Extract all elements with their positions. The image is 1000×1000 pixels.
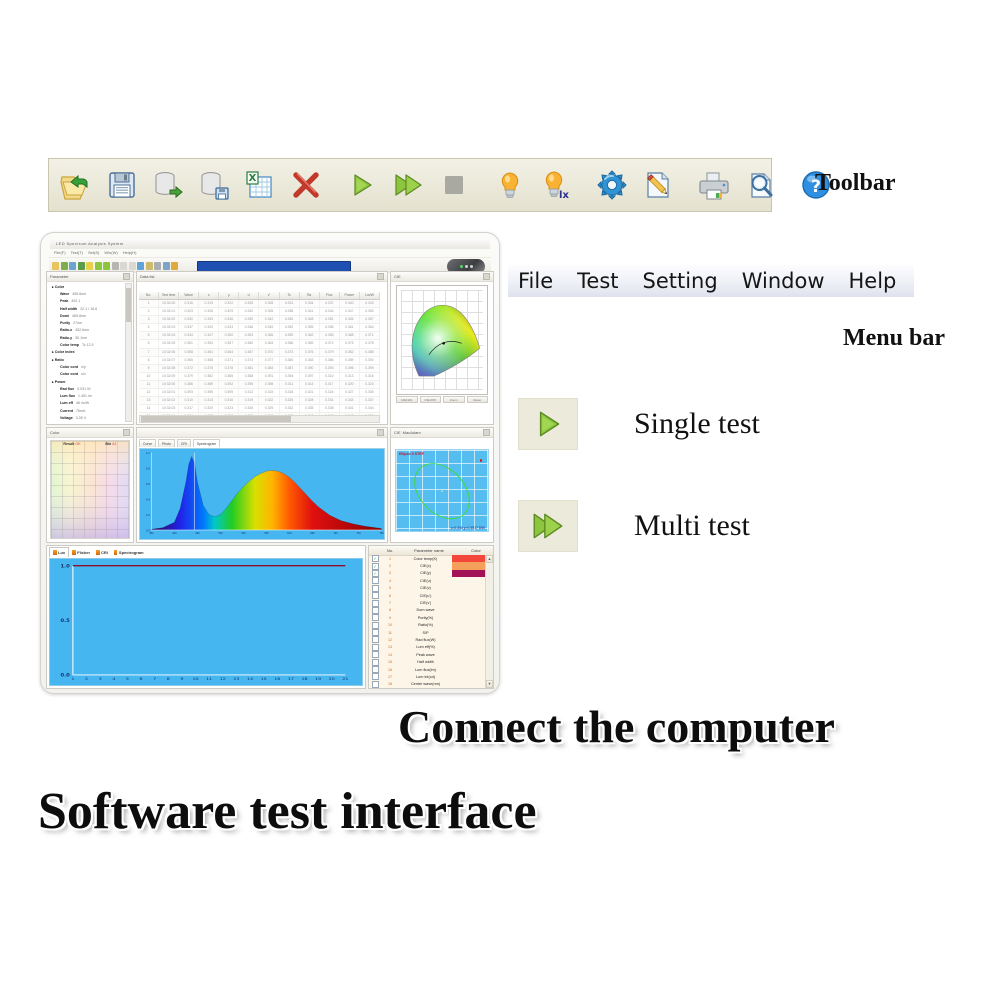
parameter-checkbox[interactable] bbox=[369, 592, 381, 599]
table-cell: 0.339 bbox=[239, 316, 259, 323]
menu-item-window[interactable]: Window bbox=[742, 269, 825, 293]
parameter-checkbox[interactable]: ✓ bbox=[369, 570, 381, 577]
parameter-index: 14 bbox=[381, 653, 399, 657]
lux-tabs: Lux Flicker CRI Spectrogram bbox=[49, 548, 147, 557]
table-cell: 12 bbox=[139, 389, 159, 396]
table-row[interactable]: 510:32:040.3440.3470.3500.3530.3560.3590… bbox=[139, 332, 380, 340]
table-cell: 0.348 bbox=[300, 316, 320, 323]
table-column-header[interactable]: Test time bbox=[159, 292, 179, 299]
parameter-checkbox[interactable] bbox=[369, 577, 381, 584]
table-row[interactable]: 710:32:060.3580.3610.3640.3670.3700.3730… bbox=[139, 349, 380, 357]
app-menu-file[interactable]: File(F) bbox=[54, 250, 66, 255]
table-cell: 0.329 bbox=[219, 308, 239, 315]
svg-text:0.8: 0.8 bbox=[146, 466, 150, 470]
parameter-color-swatch[interactable] bbox=[452, 599, 486, 606]
app-tool-help-icon[interactable] bbox=[171, 262, 178, 270]
table-cell: 0.396 bbox=[199, 389, 219, 396]
table-cell: 0.310 bbox=[179, 397, 199, 404]
parameter-checkbox[interactable] bbox=[369, 629, 381, 636]
print-preview-icon[interactable] bbox=[737, 162, 783, 208]
parameter-color-swatch[interactable] bbox=[452, 585, 486, 592]
toolbar-group-lamp: lx bbox=[487, 162, 579, 208]
app-tool-gear-icon[interactable] bbox=[137, 262, 144, 270]
svg-text:0.5: 0.5 bbox=[61, 618, 70, 623]
parameter-checkbox[interactable] bbox=[369, 644, 381, 651]
cie-panel-title: CIE bbox=[394, 274, 401, 279]
excel-export-icon[interactable]: X bbox=[237, 162, 283, 208]
table-row[interactable]: 1410:32:030.3170.3200.3230.3260.3290.332… bbox=[139, 405, 380, 413]
table-cell: 0.364 bbox=[360, 324, 380, 331]
color-swatch-grid[interactable]: Result OK Bin A1 bbox=[50, 440, 130, 539]
parameter-row[interactable]: 17Lum int(cd) bbox=[369, 673, 486, 680]
parameter-color-swatch[interactable] bbox=[452, 629, 486, 636]
spectrum-tab-spectrogram[interactable]: Spectrogram bbox=[193, 439, 220, 447]
table-cell: 0.368 bbox=[340, 332, 360, 339]
app-tool-excel-icon[interactable] bbox=[78, 262, 85, 270]
table-cell: 0.350 bbox=[360, 308, 380, 315]
parameter-color-swatch[interactable] bbox=[452, 644, 486, 651]
svg-text:580: 580 bbox=[264, 532, 269, 535]
tree-row[interactable]: Half width22.1 / 18.6 bbox=[49, 305, 126, 312]
table-cell: 0.344 bbox=[360, 405, 380, 412]
app-menu-set[interactable]: Set(S) bbox=[88, 250, 99, 255]
legend-single-test: Single test bbox=[518, 398, 760, 450]
close-icon[interactable] bbox=[123, 273, 130, 280]
parameter-row[interactable]: 15Half width bbox=[369, 658, 486, 665]
table-cell: 0.367 bbox=[239, 349, 259, 356]
parameter-row[interactable]: ✓3CIE(y) bbox=[369, 570, 486, 577]
parameter-color-swatch[interactable] bbox=[452, 577, 486, 584]
table-cell: 0.317 bbox=[320, 381, 340, 388]
table-cell: 2 bbox=[139, 308, 159, 315]
spectrum-panel-header bbox=[137, 428, 387, 438]
table-cell: 11 bbox=[139, 381, 159, 388]
close-icon[interactable] bbox=[377, 429, 384, 436]
table-cell: 10:32:00 bbox=[159, 300, 179, 307]
parameter-row[interactable]: 6CIE(u') bbox=[369, 592, 486, 599]
chart-icon bbox=[72, 550, 76, 555]
printer-icon[interactable] bbox=[691, 162, 737, 208]
svg-text:15: 15 bbox=[261, 676, 267, 681]
table-cell: 0.349 bbox=[259, 324, 279, 331]
tree-row[interactable]: Domi465.8nm bbox=[49, 312, 126, 319]
app-tool-db-icon[interactable] bbox=[69, 262, 76, 270]
table-cell: 0.331 bbox=[280, 300, 300, 307]
close-icon[interactable] bbox=[123, 429, 130, 436]
app-tool-stop-icon[interactable] bbox=[112, 262, 119, 270]
table-row[interactable]: 910:32:080.3720.3750.3780.3810.3840.3870… bbox=[139, 365, 380, 373]
table-cell: 0.317 bbox=[179, 405, 199, 412]
gear-settings-icon[interactable] bbox=[589, 162, 635, 208]
svg-text:lx: lx bbox=[559, 190, 569, 201]
close-icon[interactable] bbox=[483, 429, 490, 436]
delete-x-icon[interactable] bbox=[283, 162, 329, 208]
menubar-callout-label: Menu bar bbox=[843, 325, 945, 352]
parameter-checkbox[interactable] bbox=[369, 659, 381, 666]
app-tool-preview-icon[interactable] bbox=[163, 262, 170, 270]
parameter-row[interactable]: 12Rad flux(W) bbox=[369, 636, 486, 643]
app-menu-test[interactable]: Test(T) bbox=[71, 250, 83, 255]
table-column-header[interactable]: Ra bbox=[300, 292, 320, 299]
parameter-row[interactable]: ✓1Color temp(K) bbox=[369, 555, 486, 562]
app-tool-lux-icon[interactable] bbox=[129, 262, 136, 270]
ellipse-marker bbox=[480, 459, 483, 462]
table-cell: 0.336 bbox=[219, 316, 239, 323]
parameter-row[interactable]: 4CIE(u) bbox=[369, 577, 486, 584]
application-window-screenshot: LED Spectrum Analysis System File(F) Tes… bbox=[40, 232, 500, 694]
table-cell: 0.318 bbox=[280, 389, 300, 396]
caption-connect-the-computer: Connect the computer bbox=[398, 700, 835, 753]
data-table-panel: Data list No.Test timeWavexyu'v'TcRaFlux… bbox=[136, 271, 388, 425]
tree-row[interactable]: Wave455.6nm bbox=[49, 290, 126, 297]
svg-text:18: 18 bbox=[301, 676, 307, 681]
table-cell: 0.338 bbox=[280, 308, 300, 315]
table-cell: 0.371 bbox=[360, 332, 380, 339]
svg-text:500: 500 bbox=[218, 532, 223, 535]
table-cell: 0.325 bbox=[280, 397, 300, 404]
parameter-row[interactable]: 10Ratio(%) bbox=[369, 622, 486, 629]
table-column-header[interactable]: v' bbox=[259, 292, 279, 299]
multi-test-play-icon[interactable] bbox=[518, 500, 578, 552]
parameter-checkbox[interactable] bbox=[369, 600, 381, 607]
parameter-color-swatch[interactable] bbox=[452, 658, 486, 665]
table-column-header[interactable]: Wave bbox=[179, 292, 199, 299]
table-cell: 0.313 bbox=[340, 373, 360, 380]
table-cell: 0.340 bbox=[340, 300, 360, 307]
table-cell: 0.342 bbox=[259, 316, 279, 323]
table-row[interactable]: 1310:32:020.3100.3130.3160.3190.3220.325… bbox=[139, 397, 380, 405]
open-folder-icon[interactable] bbox=[53, 162, 99, 208]
app-tool-edit-icon[interactable] bbox=[146, 262, 153, 270]
menu-item-setting[interactable]: Setting bbox=[643, 269, 718, 293]
parameter-color-swatch[interactable] bbox=[452, 651, 486, 658]
lamp-lux-icon[interactable]: lx bbox=[533, 162, 579, 208]
parameter-row[interactable]: 9Purity(%) bbox=[369, 614, 486, 621]
legend-multi-test-label: Multi test bbox=[634, 509, 750, 543]
svg-text:21: 21 bbox=[342, 676, 348, 681]
parameter-row[interactable]: 18Center wave(nm) bbox=[369, 681, 486, 688]
macadam-ellipse-chart[interactable]: Ellipse 5 STEP x=0.346 y=0.3517 D50 bbox=[395, 449, 489, 532]
parameter-row[interactable]: 14Peak wave bbox=[369, 651, 486, 658]
table-cell: 13 bbox=[139, 397, 159, 404]
parameter-checkbox[interactable] bbox=[369, 585, 381, 592]
cie-chromaticity-chart[interactable] bbox=[396, 285, 488, 395]
tree-row-value: 452.6nm bbox=[75, 328, 89, 332]
app-tool-print-icon[interactable] bbox=[154, 262, 161, 270]
parameter-checkbox[interactable] bbox=[369, 666, 381, 673]
menu-item-file[interactable]: File bbox=[518, 269, 553, 293]
table-row[interactable]: 110:32:000.3160.3190.3220.3250.3280.3310… bbox=[139, 300, 380, 308]
lux-tab-lux-label: Lux bbox=[58, 548, 65, 557]
parameter-color-swatch[interactable] bbox=[452, 570, 486, 577]
table-cell: 0.346 bbox=[239, 324, 259, 331]
app-tool-save-icon[interactable] bbox=[61, 262, 68, 270]
spectrum-tab-cri[interactable]: CRI bbox=[177, 439, 191, 447]
tree-row[interactable]: Peak452.1 bbox=[49, 298, 126, 305]
tree-row[interactable]: Ratio-x452.6nm bbox=[49, 327, 126, 334]
app-menu-help[interactable]: Help(H) bbox=[123, 250, 137, 255]
scroll-up-icon[interactable]: ▲ bbox=[486, 555, 493, 563]
table-cell: 0.379 bbox=[179, 373, 199, 380]
data-table[interactable]: No.Test timeWavexyu'v'TcRaFluxPowerLm/W1… bbox=[139, 292, 380, 415]
tree-row[interactable]: Voltage3.05 V bbox=[49, 414, 126, 421]
parameter-color-swatch[interactable] bbox=[452, 636, 486, 643]
table-cell: 0.397 bbox=[300, 373, 320, 380]
cie-button-zoom[interactable]: Zoom bbox=[443, 396, 465, 403]
parameter-checkbox[interactable] bbox=[369, 651, 381, 658]
parameter-index: 5 bbox=[381, 586, 399, 590]
table-cell: 0.347 bbox=[340, 308, 360, 315]
tree-row[interactable]: Lum eff46 lm/W bbox=[49, 400, 126, 407]
save-floppy-icon[interactable] bbox=[99, 162, 145, 208]
parameter-row[interactable]: 7CIE(v') bbox=[369, 599, 486, 606]
table-cell: 10:32:00 bbox=[159, 381, 179, 388]
svg-text:11: 11 bbox=[206, 676, 212, 681]
toolbar-callout-label: Toolbar bbox=[815, 170, 895, 197]
parameter-list-scrollbar[interactable]: ▲ ▼ bbox=[485, 555, 493, 688]
tree-row[interactable]: ▸ Color index bbox=[49, 349, 126, 356]
close-icon[interactable] bbox=[483, 273, 490, 280]
parameter-color-swatch[interactable] bbox=[452, 622, 486, 629]
table-cell: 0.363 bbox=[259, 340, 279, 347]
parameter-index: 2 bbox=[381, 564, 399, 568]
parameter-color-swatch[interactable] bbox=[452, 562, 486, 569]
parameter-color-swatch[interactable] bbox=[452, 673, 486, 680]
ellipse-title: Ellipse 5 STEP bbox=[399, 452, 424, 456]
table-cell: 4 bbox=[139, 324, 159, 331]
parameter-name: Purity(%) bbox=[399, 616, 452, 620]
parameter-name: Lum flux(lm) bbox=[399, 668, 452, 672]
parameter-list-rows[interactable]: ✓1Color temp(K)✓2CIE(x)✓3CIE(y)4CIE(u)5C… bbox=[369, 555, 486, 688]
svg-text:1: 1 bbox=[71, 676, 74, 681]
table-panel-header: Data list bbox=[137, 272, 387, 282]
parameter-checkbox[interactable] bbox=[369, 681, 381, 688]
edit-pencil-icon[interactable] bbox=[635, 162, 681, 208]
table-cell: 0.345 bbox=[280, 316, 300, 323]
database-save-icon[interactable] bbox=[191, 162, 237, 208]
svg-text:0.2: 0.2 bbox=[146, 513, 150, 517]
tree-row-label: Color temp bbox=[60, 343, 79, 347]
scroll-down-icon[interactable]: ▼ bbox=[486, 680, 493, 688]
parameter-name: CIE(x) bbox=[399, 564, 452, 568]
table-cell: 0.316 bbox=[179, 300, 199, 307]
table-column-header[interactable]: u' bbox=[239, 292, 259, 299]
tree-row-label: Current bbox=[60, 409, 73, 413]
lux-tab-flicker[interactable]: Flicker bbox=[69, 548, 93, 557]
table-cell: 0.334 bbox=[300, 300, 320, 307]
parameter-name: CIE(v) bbox=[399, 586, 452, 590]
lux-tab-lux[interactable]: Lux bbox=[49, 547, 69, 557]
table-cell: 0.332 bbox=[239, 308, 259, 315]
parameter-index: 10 bbox=[381, 623, 399, 627]
parameter-row[interactable]: 11S/P bbox=[369, 629, 486, 636]
table-row[interactable]: 610:32:050.3510.3540.3570.3600.3630.3660… bbox=[139, 340, 380, 348]
lamp-icon[interactable] bbox=[487, 162, 533, 208]
stop-icon[interactable] bbox=[431, 162, 477, 208]
table-cell: 6 bbox=[139, 340, 159, 347]
lux-chart[interactable]: 0.00.51.01234567891011121314151617181920… bbox=[49, 558, 363, 686]
parameter-row[interactable]: 13Lum eff(%) bbox=[369, 644, 486, 651]
tree-row[interactable]: Purity27nm bbox=[49, 319, 126, 326]
table-cell: 0.370 bbox=[259, 349, 279, 356]
tree-row-value: 0.031 W bbox=[77, 387, 90, 391]
table-column-header[interactable]: x bbox=[199, 292, 219, 299]
parameter-index: 7 bbox=[381, 601, 399, 605]
tree-row-label: ▸ Color bbox=[52, 285, 64, 289]
table-cell: 1 bbox=[139, 300, 159, 307]
menu-item-help[interactable]: Help bbox=[849, 269, 897, 293]
table-row[interactable]: 210:32:010.3230.3260.3290.3320.3350.3380… bbox=[139, 308, 380, 316]
spectrum-tab-photo[interactable]: Photo bbox=[158, 439, 175, 447]
tree-row-label: Ratio-x bbox=[60, 328, 72, 332]
table-column-header[interactable]: Lm/W bbox=[360, 292, 380, 299]
tree-row-value: 46 lm/W bbox=[76, 401, 89, 405]
app-tool-delete-icon[interactable] bbox=[86, 262, 93, 270]
tree-row[interactable]: Lum flux1.451 lm bbox=[49, 392, 126, 399]
tree-row[interactable]: Rad flux0.031 W bbox=[49, 385, 126, 392]
ellipse-tab-macadam[interactable]: MacAdam bbox=[403, 430, 421, 435]
tree-row-value: 76mA bbox=[76, 409, 85, 413]
parameter-checkbox[interactable] bbox=[369, 673, 381, 680]
app-tool-multi-icon[interactable] bbox=[103, 262, 110, 270]
table-cell: 0.320 bbox=[340, 381, 360, 388]
table-cell: 0.352 bbox=[280, 324, 300, 331]
table-column-header[interactable]: Flux bbox=[320, 292, 340, 299]
app-menu-win[interactable]: Win(W) bbox=[104, 250, 117, 255]
table-cell: 0.372 bbox=[320, 340, 340, 347]
app-tool-lamp-icon[interactable] bbox=[120, 262, 127, 270]
tree-row-value: 22.1 / 18.6 bbox=[80, 307, 97, 311]
tree-row-label: Lum flux bbox=[60, 394, 75, 398]
parameter-name: CIE(u) bbox=[399, 579, 452, 583]
table-cell: 0.334 bbox=[340, 397, 360, 404]
table-cell: 0.364 bbox=[219, 349, 239, 356]
svg-text:16: 16 bbox=[274, 676, 280, 681]
parameter-color-swatch[interactable] bbox=[452, 681, 486, 688]
tree-row[interactable]: Color cordu/v bbox=[49, 371, 126, 378]
parameter-name: S/P bbox=[399, 631, 452, 635]
tree-list[interactable]: ▸ ColorWave455.6nmPeak452.1Half width22.… bbox=[49, 283, 126, 422]
parameter-checkbox[interactable] bbox=[369, 607, 381, 614]
tree-row[interactable]: ▸ Power bbox=[49, 378, 126, 385]
parameter-name: Dom wave bbox=[399, 608, 452, 612]
close-icon[interactable] bbox=[377, 273, 384, 280]
parameter-index: 12 bbox=[381, 638, 399, 642]
table-column-header[interactable]: Tc bbox=[280, 292, 300, 299]
spectrum-tab-curve[interactable]: Curve bbox=[139, 439, 156, 447]
tree-row[interactable]: Current76mA bbox=[49, 407, 126, 414]
toolbar-group-print bbox=[691, 162, 783, 208]
parameter-row[interactable]: 8Dom wave bbox=[369, 607, 486, 614]
swatch-value-1: A1 bbox=[112, 442, 116, 446]
toolbar: X bbox=[48, 158, 772, 212]
cie-button-reset[interactable]: Reset bbox=[467, 396, 489, 403]
tree-scrollbar[interactable] bbox=[125, 283, 132, 422]
table-cell: 0.327 bbox=[340, 389, 360, 396]
table-cell: 0.344 bbox=[179, 332, 199, 339]
parameter-checkbox[interactable] bbox=[369, 636, 381, 643]
cie-button-1976[interactable]: CIE1976 bbox=[420, 396, 442, 403]
single-test-play-icon[interactable] bbox=[518, 398, 578, 450]
spectrum-chart[interactable]: 0.00.20.40.60.81.03804204605005405806206… bbox=[139, 448, 385, 540]
tree-row[interactable]: ▸ Color bbox=[49, 283, 126, 290]
parameter-color-swatch[interactable] bbox=[452, 592, 486, 599]
app-tool-play-icon[interactable] bbox=[95, 262, 102, 270]
table-cell: 0.386 bbox=[320, 357, 340, 364]
table-horizontal-scrollbar[interactable] bbox=[139, 415, 380, 423]
parameter-checkbox[interactable] bbox=[369, 622, 381, 629]
table-row[interactable]: 410:32:030.3370.3400.3430.3460.3490.3520… bbox=[139, 324, 380, 332]
table-cell: 0.357 bbox=[219, 340, 239, 347]
database-export-icon[interactable] bbox=[145, 162, 191, 208]
table-row[interactable]: 310:32:020.3300.3330.3360.3390.3420.3450… bbox=[139, 316, 380, 324]
table-row[interactable]: 1210:32:010.3930.3960.3990.3120.3150.318… bbox=[139, 389, 380, 397]
parameter-row[interactable]: 5CIE(v) bbox=[369, 585, 486, 592]
table-cell: 0.398 bbox=[259, 381, 279, 388]
tree-row-label: Lum eff bbox=[60, 401, 73, 405]
tree-row[interactable]: Color tempTc 12.5 bbox=[49, 341, 126, 348]
table-cell: 0.321 bbox=[300, 389, 320, 396]
parameter-index: 18 bbox=[381, 682, 399, 686]
svg-text:0.4: 0.4 bbox=[146, 497, 150, 501]
table-cell: 0.343 bbox=[360, 300, 380, 307]
table-column-header[interactable]: No. bbox=[139, 292, 159, 299]
parameter-checkbox[interactable]: ✓ bbox=[369, 563, 381, 570]
parameter-checkbox[interactable] bbox=[369, 614, 381, 621]
app-tool-open-icon[interactable] bbox=[52, 262, 59, 270]
single-test-play-icon[interactable] bbox=[339, 162, 385, 208]
parameter-row[interactable]: 16Lum flux(lm) bbox=[369, 666, 486, 673]
parameter-color-swatch[interactable] bbox=[452, 555, 486, 562]
lux-tab-spectrogram[interactable]: Spectrogram bbox=[111, 548, 147, 557]
parameter-color-swatch[interactable] bbox=[452, 666, 486, 673]
table-cell: 0.379 bbox=[320, 349, 340, 356]
tree-row[interactable]: ▸ Ratio bbox=[49, 356, 126, 363]
table-row[interactable]: 1010:32:090.3790.3820.3850.3880.3910.394… bbox=[139, 373, 380, 381]
table-cell: 8 bbox=[139, 357, 159, 364]
tree-row[interactable]: Ratio-y50.1nm bbox=[49, 334, 126, 341]
multi-test-play-icon[interactable] bbox=[385, 162, 431, 208]
parameter-row[interactable]: ✓2CIE(x) bbox=[369, 562, 486, 569]
lux-tab-cri[interactable]: CRI bbox=[93, 548, 111, 557]
menu-item-test[interactable]: Test bbox=[577, 269, 618, 293]
parameter-tree-panel: Parameter ▸ ColorWave455.6nmPeak452.1Hal… bbox=[46, 271, 134, 425]
table-column-header[interactable]: Power bbox=[340, 292, 360, 299]
table-cell: 10:32:04 bbox=[159, 332, 179, 339]
table-cell: 10:32:09 bbox=[159, 373, 179, 380]
parameter-checkbox[interactable]: ✓ bbox=[369, 555, 381, 562]
table-cell: 0.382 bbox=[199, 373, 219, 380]
svg-text:3: 3 bbox=[99, 676, 102, 681]
table-column-header[interactable]: y bbox=[219, 292, 239, 299]
cie-button-1931[interactable]: CIE1931 bbox=[396, 396, 418, 403]
svg-text:X: X bbox=[249, 173, 257, 184]
lux-tab-flicker-label: Flicker bbox=[77, 548, 90, 557]
table-row[interactable]: 1110:32:000.3860.3890.3920.3950.3980.311… bbox=[139, 381, 380, 389]
svg-text:700: 700 bbox=[333, 532, 338, 535]
ellipse-tab-cie[interactable]: CIE bbox=[394, 430, 401, 435]
parameter-color-swatch[interactable] bbox=[452, 614, 486, 621]
table-cell: 0.322 bbox=[219, 300, 239, 307]
table-cell: 0.319 bbox=[239, 397, 259, 404]
table-cell: 0.337 bbox=[360, 397, 380, 404]
svg-text:780: 780 bbox=[379, 532, 384, 535]
app-title: LED Spectrum Analysis System bbox=[56, 241, 123, 246]
tree-row[interactable]: Color cordx/y bbox=[49, 363, 126, 370]
table-row[interactable]: 810:32:070.3650.3680.3710.3740.3770.3800… bbox=[139, 357, 380, 365]
parameter-color-swatch[interactable] bbox=[452, 607, 486, 614]
svg-text:5: 5 bbox=[126, 676, 129, 681]
